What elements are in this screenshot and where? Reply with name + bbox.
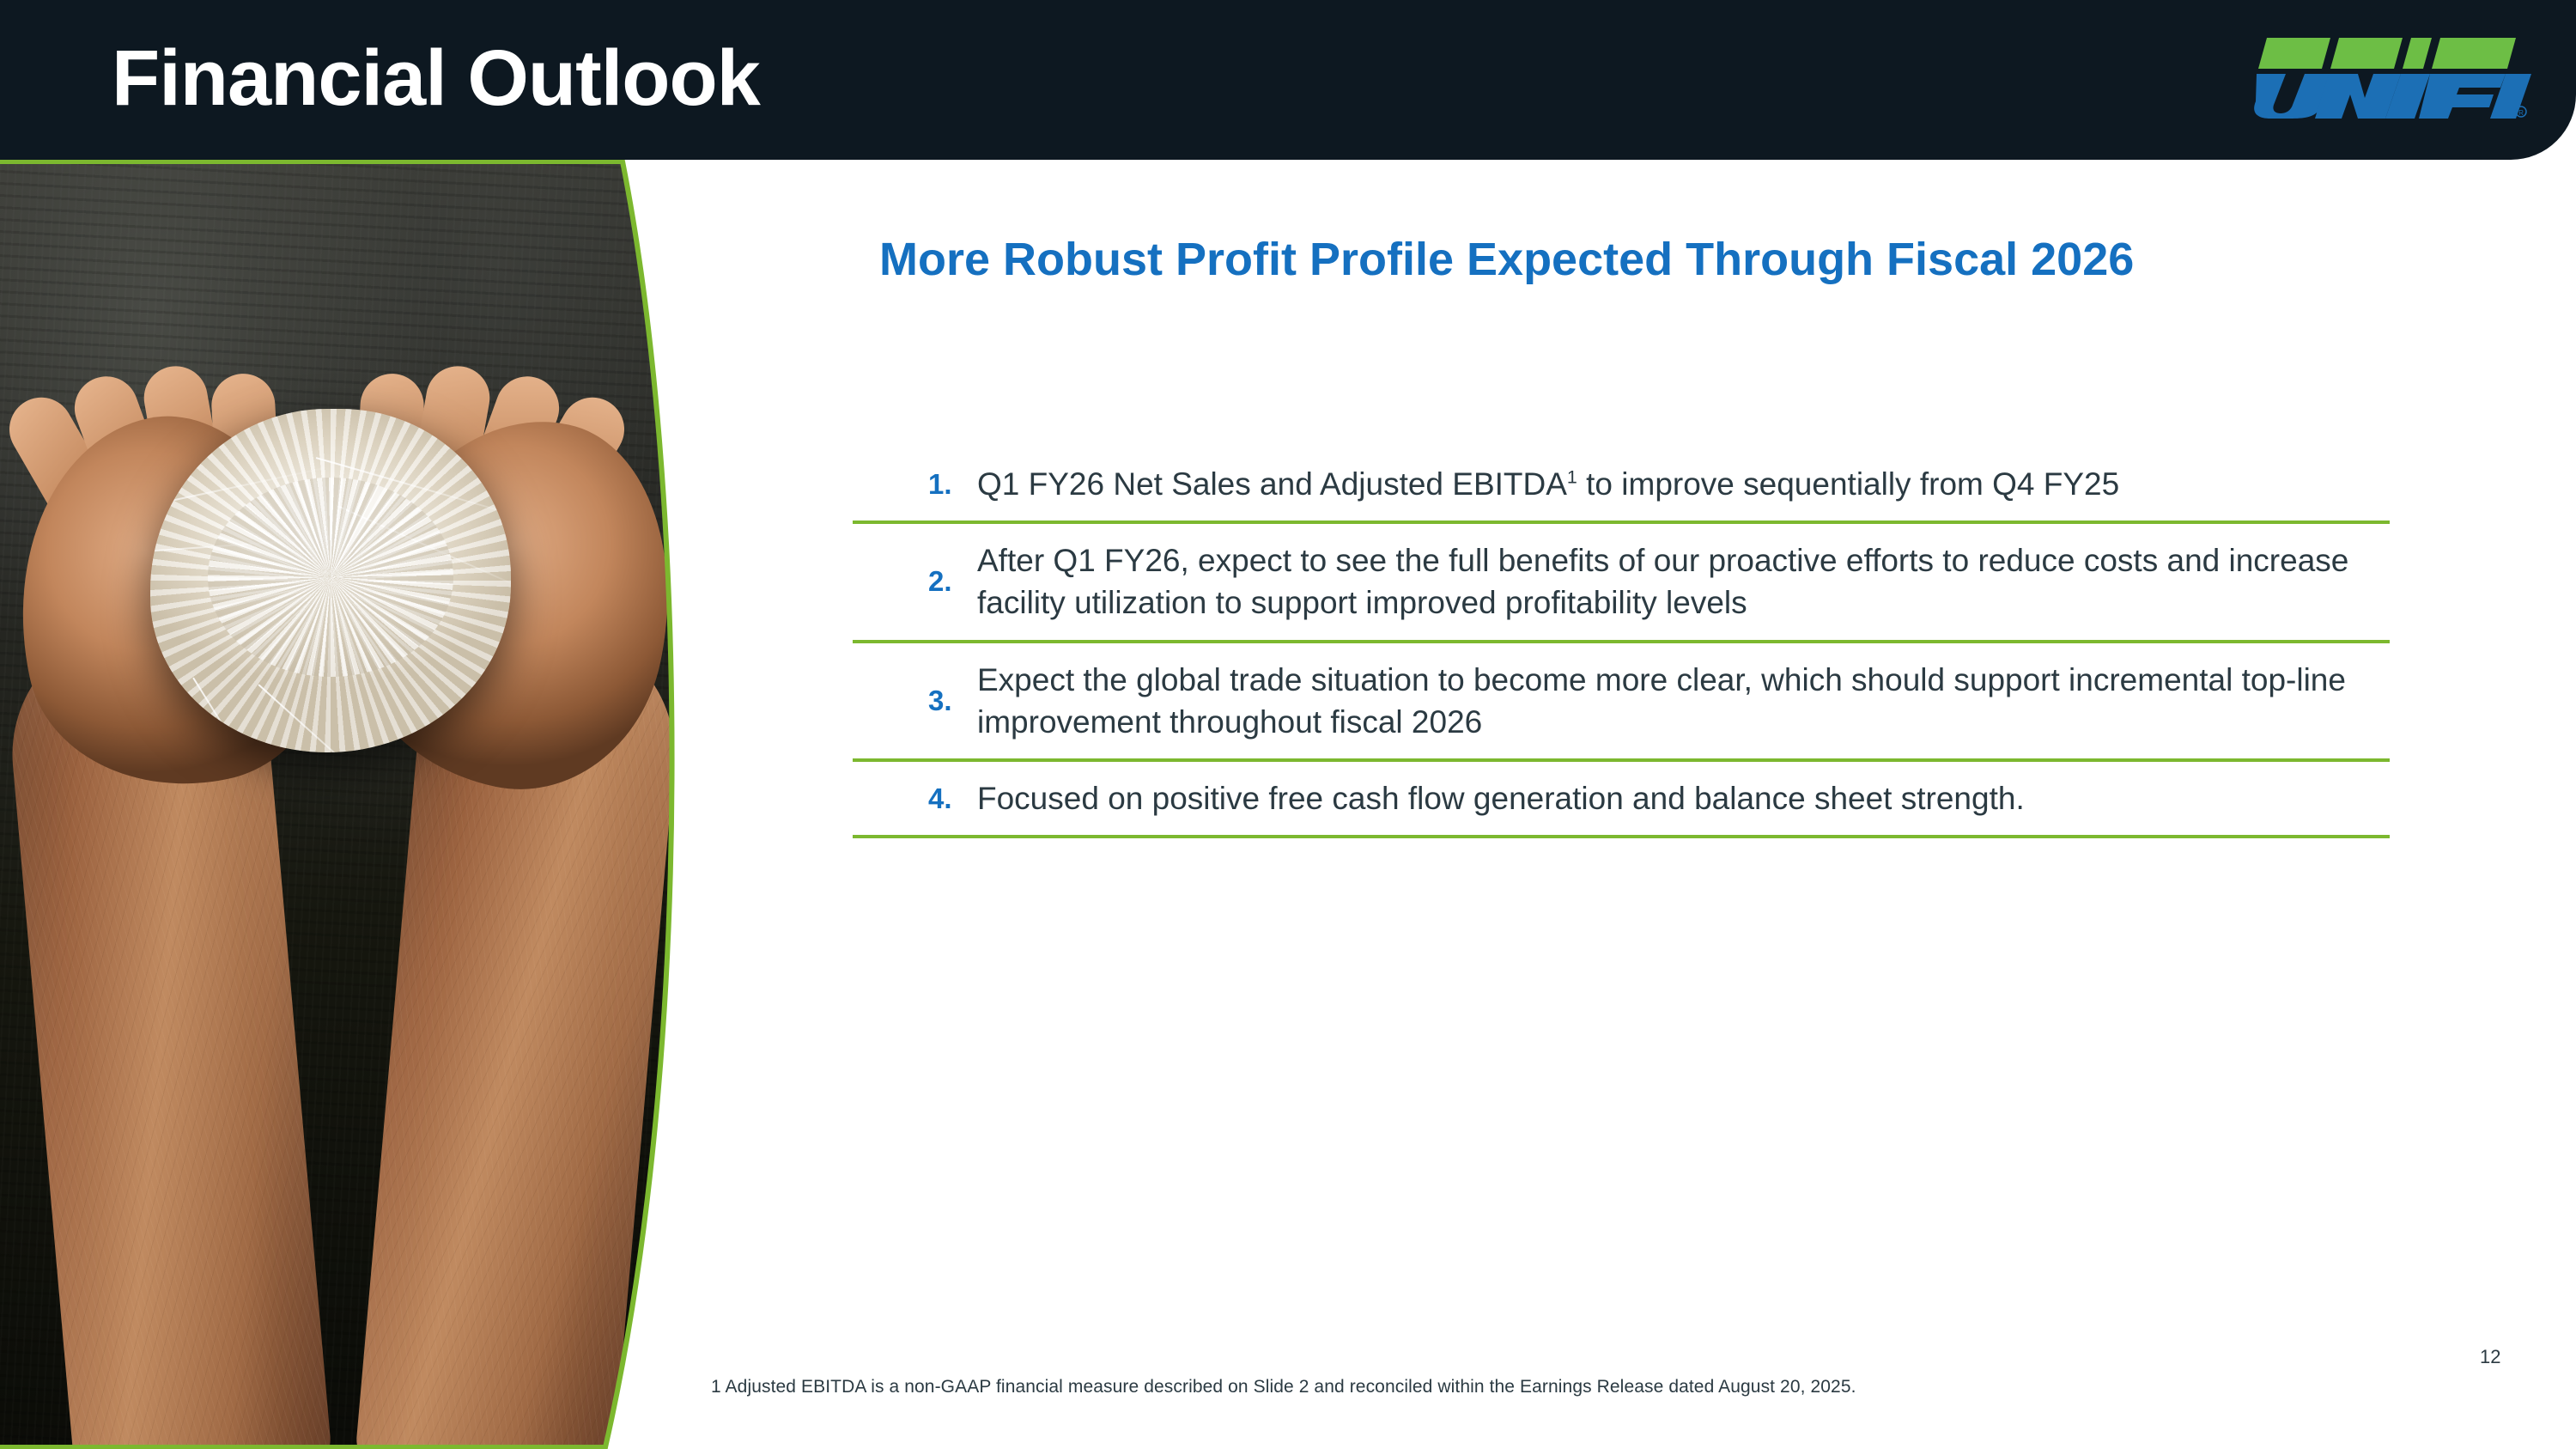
list-item: 1. Q1 FY26 Net Sales and Adjusted EBITDA…	[853, 447, 2390, 521]
page-number: 12	[2480, 1346, 2500, 1368]
list-item-text: Q1 FY26 Net Sales and Adjusted EBITDA1 t…	[977, 463, 2390, 505]
unifi-logo[interactable]: R	[2248, 34, 2531, 120]
list-item-text: Focused on positive free cash flow gener…	[977, 777, 2390, 819]
list-item-text: After Q1 FY26, expect to see the full be…	[977, 539, 2390, 624]
list-item-number: 2.	[853, 565, 977, 598]
footnote: 1 Adjusted EBITDA is a non-GAAP financia…	[711, 1377, 1856, 1397]
list-divider	[853, 835, 2390, 838]
svg-text:R: R	[2518, 109, 2524, 117]
list-item-text: Expect the global trade situation to bec…	[977, 659, 2390, 743]
footnote-marker: 1	[1567, 467, 1577, 488]
list-item-text-part1: Q1 FY26 Net Sales and Adjusted EBITDA	[977, 466, 1567, 502]
slide-header: Financial Outlook R	[0, 0, 2576, 160]
list-item-number: 4.	[853, 782, 977, 815]
list-item: 2. After Q1 FY26, expect to see the full…	[853, 524, 2390, 639]
list-item: 3. Expect the global trade situation to …	[853, 643, 2390, 758]
section-heading: More Robust Profit Profile Expected Thro…	[879, 233, 2167, 288]
list-item-number: 1.	[853, 468, 977, 501]
outlook-list: 1. Q1 FY26 Net Sales and Adjusted EBITDA…	[853, 447, 2390, 838]
list-item-text-part2: to improve sequentially from Q4 FY25	[1577, 466, 2119, 502]
list-item: 4. Focused on positive free cash flow ge…	[853, 762, 2390, 835]
slide-body: More Robust Profit Profile Expected Thro…	[0, 160, 2576, 1449]
page-title: Financial Outlook	[112, 5, 760, 151]
list-item-number: 3.	[853, 685, 977, 717]
